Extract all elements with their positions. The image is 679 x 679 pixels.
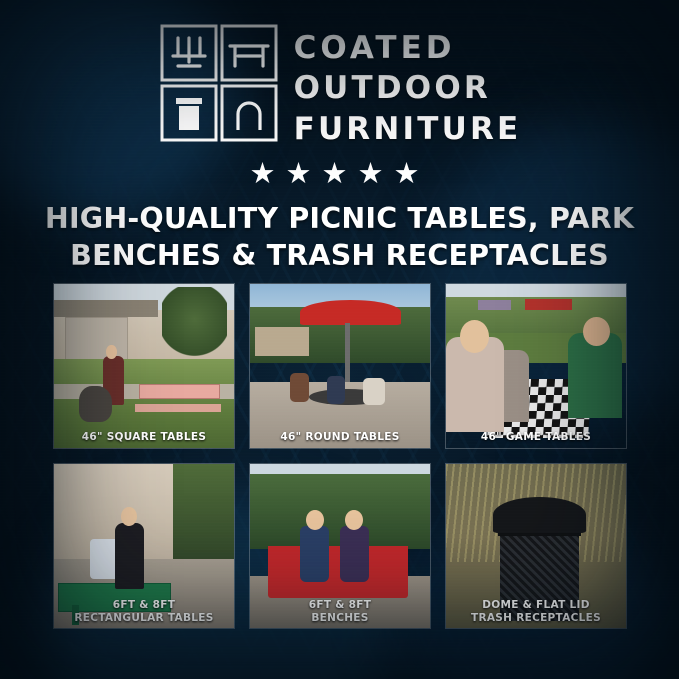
brand-name-line2: OUTDOOR	[294, 68, 522, 108]
caption-line-1: 46" GAME TABLES	[448, 431, 624, 443]
star-icon-1: ★	[250, 160, 286, 189]
star-rating: ★★★★★	[0, 160, 679, 189]
caption-line-2: TRASH RECEPTACLES	[448, 612, 624, 624]
caption-line-1: 46" ROUND TABLES	[252, 431, 428, 443]
photo-square-tables	[54, 284, 234, 448]
gallery-item-round-tables[interactable]: 46" ROUND TABLES	[249, 283, 431, 449]
headline: HIGH-QUALITY PICNIC TABLES, PARK BENCHES…	[0, 200, 679, 274]
caption-line-1: 46" SQUARE TABLES	[56, 431, 232, 443]
gallery-caption: 46" SQUARE TABLES	[54, 428, 234, 448]
star-icon-4: ★	[358, 160, 394, 189]
gallery-caption: 46" GAME TABLES	[446, 428, 626, 448]
logo-grid-icon	[158, 22, 280, 144]
gallery-item-square-tables[interactable]: 46" SQUARE TABLES	[53, 283, 235, 449]
product-gallery: 46" SQUARE TABLES 46" ROUND TABLES 46" G…	[53, 283, 627, 629]
caption-line-1: 6FT & 8FT	[252, 599, 428, 611]
star-icon-5: ★	[394, 160, 430, 189]
gallery-item-benches[interactable]: 6FT & 8FT BENCHES	[249, 463, 431, 629]
gallery-caption: 46" ROUND TABLES	[250, 428, 430, 448]
caption-line-2: RECTANGULAR TABLES	[56, 612, 232, 624]
gallery-caption: 6FT & 8FT RECTANGULAR TABLES	[54, 596, 234, 628]
caption-line-2: BENCHES	[252, 612, 428, 624]
star-icon-2: ★	[286, 160, 322, 189]
gallery-item-game-tables[interactable]: 46" GAME TABLES	[445, 283, 627, 449]
promo-banner: COATED OUTDOOR FURNITURE ★★★★★ HIGH-QUAL…	[0, 0, 679, 679]
photo-game-tables	[446, 284, 626, 448]
headline-line-2: BENCHES & TRASH RECEPTACLES	[28, 237, 651, 274]
brand-name-line1: COATED	[294, 28, 522, 68]
brand-logo-row: COATED OUTDOOR FURNITURE	[0, 22, 679, 149]
caption-line-1: 6FT & 8FT	[56, 599, 232, 611]
star-icon-3: ★	[322, 160, 358, 189]
brand-name-line3: FURNITURE	[294, 109, 522, 149]
brand-wordmark: COATED OUTDOOR FURNITURE	[294, 22, 522, 149]
headline-line-1: HIGH-QUALITY PICNIC TABLES, PARK	[28, 200, 651, 237]
gallery-caption: DOME & FLAT LID TRASH RECEPTACLES	[446, 596, 626, 628]
gallery-caption: 6FT & 8FT BENCHES	[250, 596, 430, 628]
photo-round-tables	[250, 284, 430, 448]
caption-line-1: DOME & FLAT LID	[448, 599, 624, 611]
gallery-item-trash-receptacles[interactable]: DOME & FLAT LID TRASH RECEPTACLES	[445, 463, 627, 629]
gallery-item-rectangular-tables[interactable]: 6FT & 8FT RECTANGULAR TABLES	[53, 463, 235, 629]
